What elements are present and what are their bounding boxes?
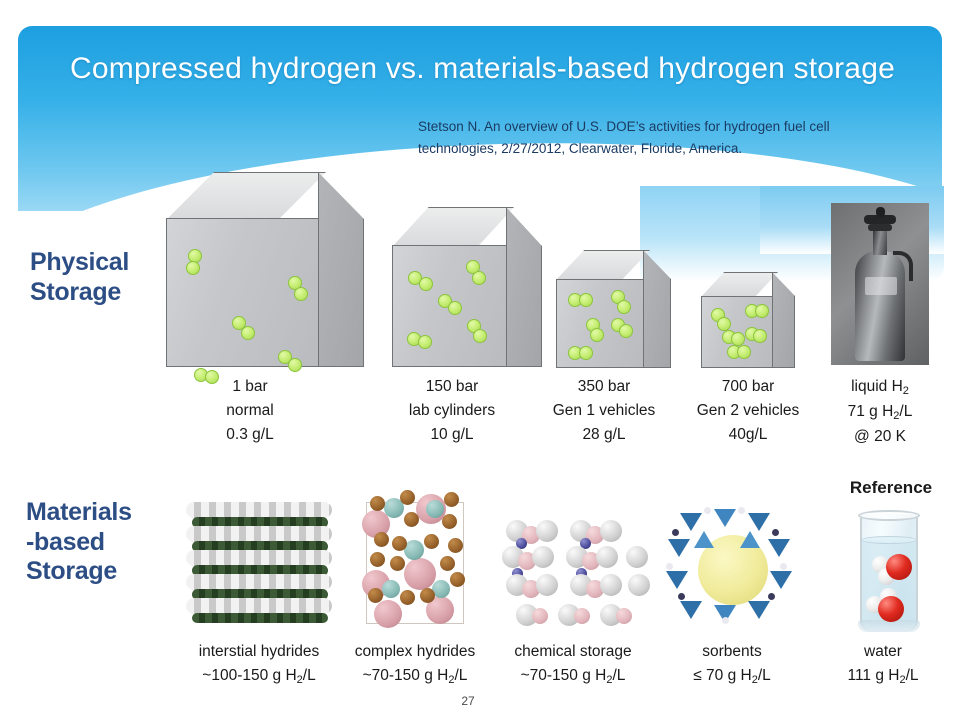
lattice-layer	[192, 613, 328, 623]
caption-line-2: 71 g H2/L	[818, 400, 942, 425]
section-label-line-1: Physical	[30, 248, 180, 278]
zeolite-tetrahedron	[668, 539, 690, 557]
cube-1-bar	[166, 172, 364, 367]
atom-pink	[574, 608, 590, 624]
caption-line-2: ≤ 70 g H2/L	[662, 664, 802, 689]
section-label-line-3: Storage	[26, 557, 186, 587]
atom-brown	[400, 490, 415, 505]
zeolite-tetrahedron	[748, 513, 770, 531]
zeolite-tetrahedron	[680, 513, 702, 531]
slide-canvas: Compressed hydrogen vs. materials-based …	[0, 0, 960, 720]
cube-side-face	[506, 207, 542, 367]
layered-lattice-structure	[186, 500, 332, 632]
framework-atom	[678, 593, 685, 600]
atom-brown	[448, 538, 463, 553]
lattice-layer	[186, 574, 332, 590]
hydrogen-molecule	[590, 328, 604, 342]
glass-rim	[858, 510, 920, 521]
zeolite-tetrahedron	[768, 539, 790, 557]
framework-atom	[768, 593, 775, 600]
hydrogen-molecule	[419, 277, 433, 291]
zeolite-cage-structure	[664, 505, 800, 633]
cube-top-face	[556, 250, 650, 280]
atom-brown	[368, 588, 383, 603]
oxygen-atom	[886, 554, 912, 580]
hydrogen-molecule	[473, 329, 487, 343]
caption-line-2: ~100-150 g H2/L	[180, 664, 338, 689]
caption-line-2: lab cylinders	[378, 399, 526, 423]
zeolite-tetrahedron	[666, 571, 688, 589]
atom-gray	[536, 520, 558, 542]
atom-brown	[392, 536, 407, 551]
caption-line-2: normal	[172, 399, 328, 423]
cylinder-valve-lower	[868, 224, 892, 231]
atom-brown	[450, 572, 465, 587]
section-label-materials-based-storage: Materials -based Storage	[26, 498, 186, 587]
atom-brown	[370, 496, 385, 511]
cylinder-neck	[873, 229, 887, 255]
atom-brown	[404, 512, 419, 527]
atom-pink	[374, 600, 402, 628]
cube-top-face	[392, 207, 514, 247]
framework-atom	[666, 563, 673, 570]
caption-interstial-hydrides: interstial hydrides ~100-150 g H2/L	[180, 640, 338, 689]
cube-150-bar	[392, 207, 542, 367]
hydrogen-molecule	[294, 287, 308, 301]
lattice-layer	[186, 598, 332, 614]
lattice-layer	[186, 550, 332, 566]
atom-brown	[444, 492, 459, 507]
cube-side-face	[772, 272, 795, 368]
lattice-layer	[186, 502, 332, 518]
hydrogen-molecule	[731, 332, 745, 346]
hydrogen-molecule	[737, 345, 751, 359]
caption-line-2: Gen 2 vehicles	[672, 399, 824, 423]
molecular-packing-structure	[500, 520, 650, 632]
hydrogen-molecule	[755, 304, 769, 318]
hydrogen-molecule	[579, 346, 593, 360]
caption-150-bar: 150 bar lab cylinders 10 g/L	[378, 375, 526, 447]
caption-line-3: 0.3 g/L	[172, 423, 328, 447]
atom-teal	[404, 540, 424, 560]
zeolite-tetrahedron	[770, 571, 792, 589]
atom-gray	[600, 574, 622, 596]
hydrogen-molecule	[472, 271, 486, 285]
hydrogen-molecule	[617, 300, 631, 314]
cube-side-face	[643, 250, 671, 368]
hydrogen-molecule	[418, 335, 432, 349]
hydrogen-molecule	[241, 326, 255, 340]
caption-line-3: 40g/L	[672, 423, 824, 447]
citation-text: Stetson N. An overview of U.S. DOE’s act…	[418, 116, 888, 160]
caption-line-2: 111 g H2/L	[818, 664, 948, 689]
atom-gray	[626, 546, 648, 568]
gas-cylinder-photo	[831, 203, 929, 365]
caption-line-1: 700 bar	[672, 375, 824, 399]
caption-line-1: 150 bar	[378, 375, 526, 399]
framework-atom	[738, 507, 745, 514]
caption-line-1: complex hydrides	[336, 640, 494, 664]
caption-line-2: ~70-150 g H2/L	[336, 664, 494, 689]
atom-pink	[404, 558, 436, 590]
atom-brown	[400, 590, 415, 605]
atom-brown	[442, 514, 457, 529]
caption-line-1: interstial hydrides	[180, 640, 338, 664]
atom-brown	[420, 588, 435, 603]
caption-line-1: 350 bar	[528, 375, 680, 399]
cube-side-face	[318, 172, 364, 367]
cube-700-bar	[701, 272, 795, 368]
hydrogen-molecule	[619, 324, 633, 338]
caption-line-1: liquid H2	[818, 375, 942, 400]
complex-crystal-structure	[344, 488, 482, 634]
caption-700-bar: 700 bar Gen 2 vehicles 40g/L	[672, 375, 824, 447]
caption-liquid-h2: liquid H2 71 g H2/L @ 20 K	[818, 375, 942, 449]
framework-atom	[722, 617, 729, 624]
cube-top-face	[166, 172, 326, 220]
reference-label: Reference	[826, 478, 956, 498]
atom-pink	[532, 608, 548, 624]
atom-brown	[370, 552, 385, 567]
caption-line-2: Gen 1 vehicles	[528, 399, 680, 423]
caption-1-bar: 1 bar normal 0.3 g/L	[172, 375, 328, 447]
section-label-line-2: Storage	[30, 278, 180, 308]
atom-brown	[374, 532, 389, 547]
atom-brown	[440, 556, 455, 571]
hydrogen-molecule	[288, 358, 302, 372]
framework-atom	[672, 529, 679, 536]
atom-gray	[532, 546, 554, 568]
zeolite-tetrahedron	[714, 509, 736, 527]
caption-sorbents: sorbents ≤ 70 g H2/L	[662, 640, 802, 689]
water-molecule	[866, 588, 910, 622]
atom-gray	[600, 520, 622, 542]
zeolite-tetrahedron	[680, 601, 702, 619]
atom-gray	[628, 574, 650, 596]
hydrogen-molecule	[717, 317, 731, 331]
hydrogen-molecule	[448, 301, 462, 315]
zeolite-tetrahedron	[694, 531, 714, 548]
atom-gray	[596, 546, 618, 568]
framework-atom	[772, 529, 779, 536]
cylinder-label-plate	[865, 277, 897, 295]
water-molecule	[872, 552, 916, 586]
caption-line-3: 28 g/L	[528, 423, 680, 447]
caption-line-1: chemical storage	[494, 640, 652, 664]
caption-350-bar: 350 bar Gen 1 vehicles 28 g/L	[528, 375, 680, 447]
water-glass-photo	[838, 508, 942, 638]
page-number: 27	[448, 694, 488, 708]
zeolite-tetrahedron	[740, 531, 760, 548]
caption-line-3: 10 g/L	[378, 423, 526, 447]
atom-teal	[382, 580, 400, 598]
cube-top-face	[701, 272, 778, 297]
zeolite-tetrahedron	[748, 601, 770, 619]
hydrogen-molecule	[186, 261, 200, 275]
lattice-layer	[186, 526, 332, 542]
glass-water-surface	[861, 536, 917, 544]
caption-line-1: sorbents	[662, 640, 802, 664]
framework-atom	[704, 507, 711, 514]
caption-complex-hydrides: complex hydrides ~70-150 g H2/L	[336, 640, 494, 689]
atom-brown	[390, 556, 405, 571]
caption-water: water 111 g H2/L	[818, 640, 948, 689]
cube-350-bar	[556, 250, 671, 368]
framework-atom	[780, 563, 787, 570]
caption-line-3: @ 20 K	[818, 425, 942, 449]
caption-line-1: 1 bar	[172, 375, 328, 399]
hydrogen-molecule	[753, 329, 767, 343]
section-label-line-1: Materials	[26, 498, 186, 528]
caption-chemical-storage: chemical storage ~70-150 g H2/L	[494, 640, 652, 689]
section-label-line-2: -based	[26, 528, 186, 558]
atom-brown	[424, 534, 439, 549]
atom-pink	[616, 608, 632, 624]
oxygen-atom	[878, 596, 904, 622]
atom-gray	[536, 574, 558, 596]
caption-line-1: water	[818, 640, 948, 664]
hydrogen-molecule	[579, 293, 593, 307]
page-title: Compressed hydrogen vs. materials-based …	[70, 52, 910, 86]
atom-teal	[426, 500, 444, 518]
section-label-physical-storage: Physical Storage	[30, 248, 180, 307]
cylinder-knob	[876, 207, 885, 217]
caption-line-2: ~70-150 g H2/L	[494, 664, 652, 689]
